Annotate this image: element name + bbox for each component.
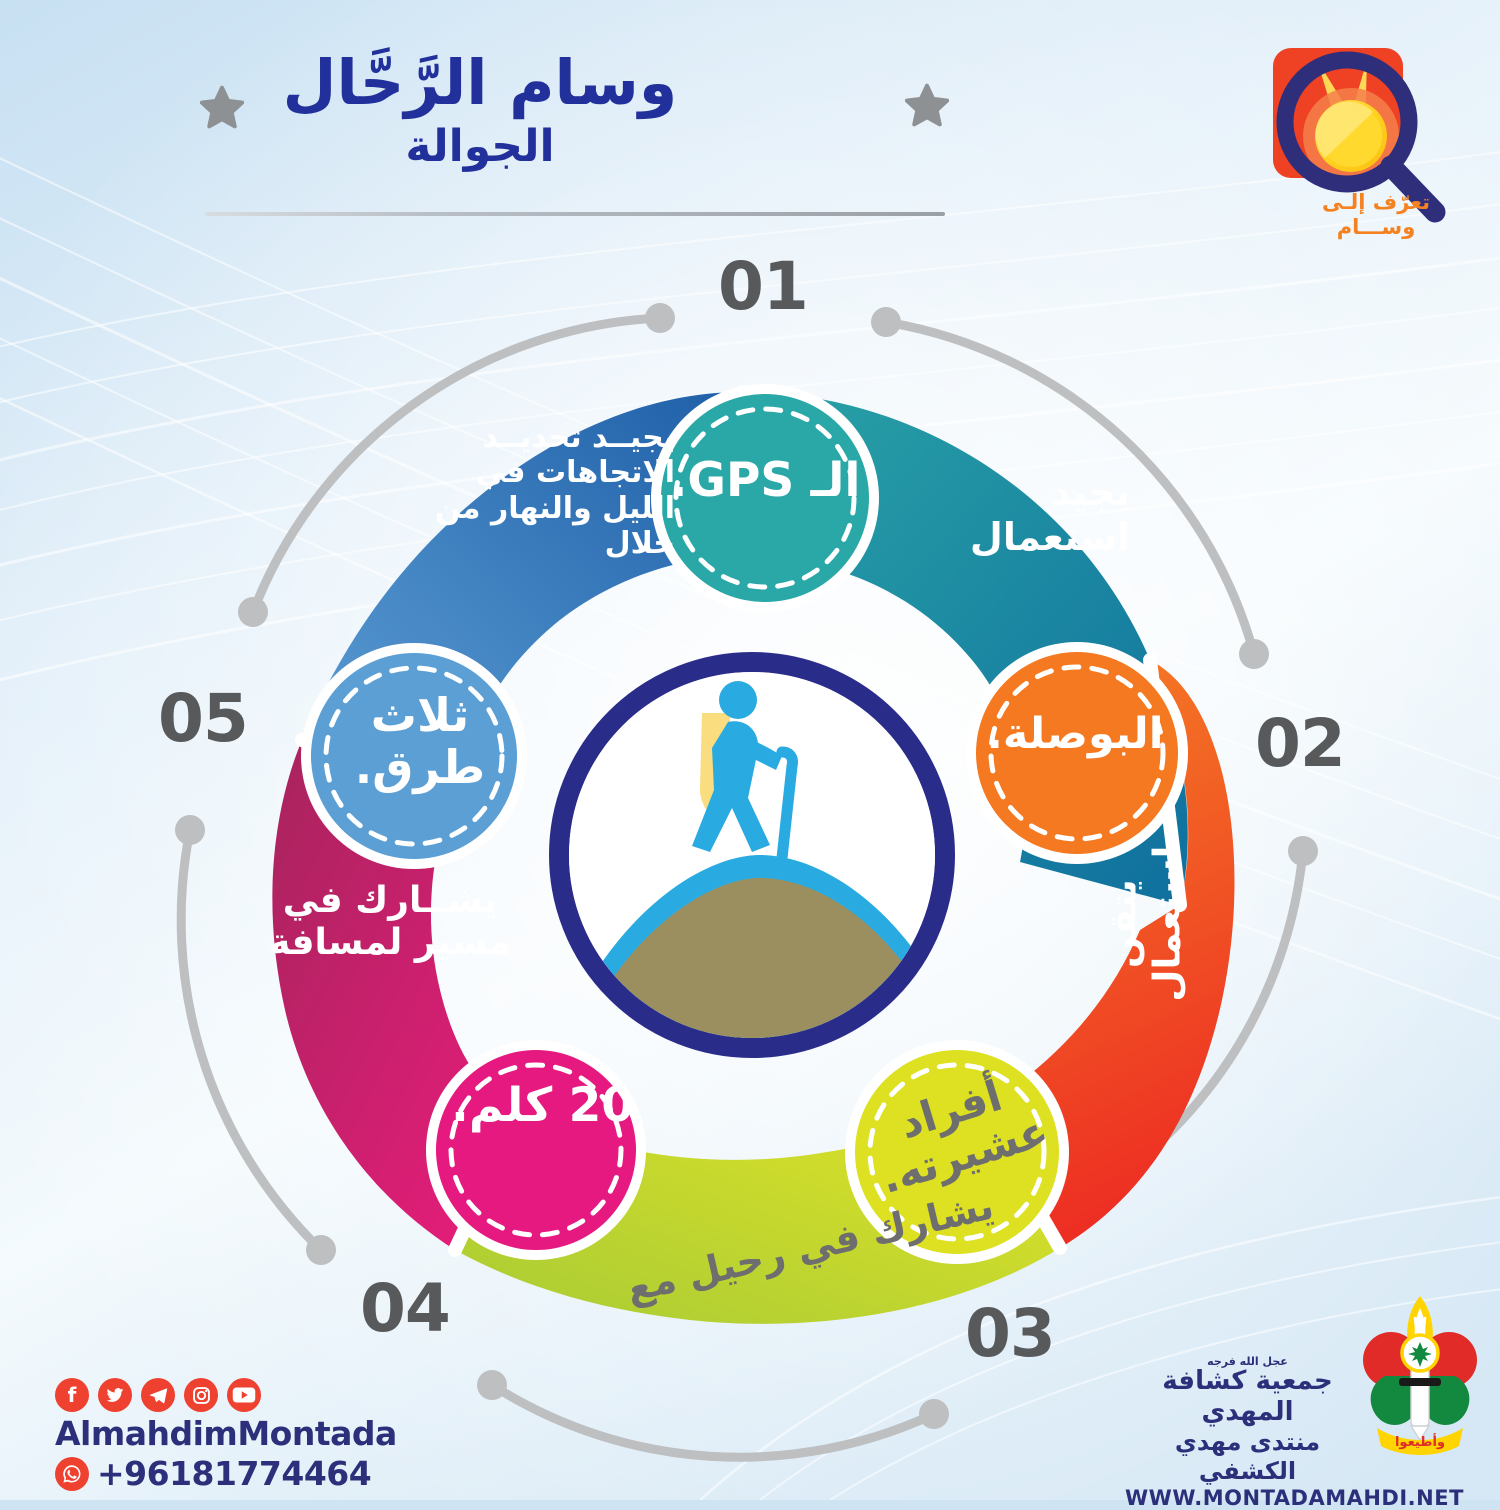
social-handle: AlmahdimMontada — [55, 1414, 385, 1453]
telegram-plane-glyph — [148, 1385, 168, 1405]
org-website: WWW.MONTADAMAHDI.NET — [1125, 1486, 1370, 1510]
step-badge-04: 20 كلم. — [440, 1080, 645, 1133]
step-badge-02: البوصلة. — [960, 710, 1190, 758]
step-number-04: 04 — [360, 1270, 450, 1347]
whatsapp-number: +96181774464 — [97, 1454, 371, 1493]
step-number-01: 01 — [718, 248, 808, 325]
step-badge-01: الـ GPS. — [650, 455, 880, 508]
infographic-canvas: وسام الرَّحَّال الجوالة — [0, 0, 1500, 1500]
step-number-03: 03 — [965, 1295, 1055, 1372]
step-number-05: 05 — [158, 680, 248, 757]
twitter-bird-glyph — [105, 1385, 125, 1405]
whatsapp-icon[interactable] — [55, 1457, 89, 1491]
social-icon-row: f — [55, 1378, 385, 1412]
instagram-icon[interactable] — [184, 1378, 218, 1412]
organization-block: عجل الله فرجه جمعية كشافة المهدي منتدى م… — [1125, 1355, 1370, 1510]
org-forum-name: منتدى مهدي الكشفي — [1125, 1428, 1370, 1486]
whatsapp-glyph — [61, 1463, 83, 1485]
badge-04 — [426, 1040, 646, 1260]
step-label-04: يشــارك في مسير لمسافة — [245, 880, 535, 965]
twitter-icon[interactable] — [98, 1378, 132, 1412]
youtube-play-glyph — [232, 1386, 256, 1404]
whatsapp-line: +96181774464 — [55, 1454, 385, 1493]
scout-fleur-de-lis-logo: وأطيعوا — [1355, 1290, 1485, 1465]
step-label-01: يجيد استعمال — [880, 470, 1130, 560]
center-illustration — [548, 655, 975, 1085]
facebook-icon[interactable]: f — [55, 1378, 89, 1412]
step-label-05: يجيــد تحديــد الاتجاهات في الليل والنها… — [395, 420, 675, 562]
org-name: جمعية كشافة المهدي — [1125, 1366, 1370, 1428]
step-number-02: 02 — [1255, 705, 1345, 782]
step-label-02: يتقن استعمال — [1101, 809, 1188, 1039]
step-badge-05: ثلاث طرق. — [315, 690, 525, 793]
instagram-camera-glyph — [191, 1385, 212, 1406]
svg-text:وأطيعوا: وأطيعوا — [1395, 1433, 1445, 1450]
youtube-icon[interactable] — [227, 1378, 261, 1412]
social-block: f — [55, 1378, 385, 1493]
telegram-icon[interactable] — [141, 1378, 175, 1412]
